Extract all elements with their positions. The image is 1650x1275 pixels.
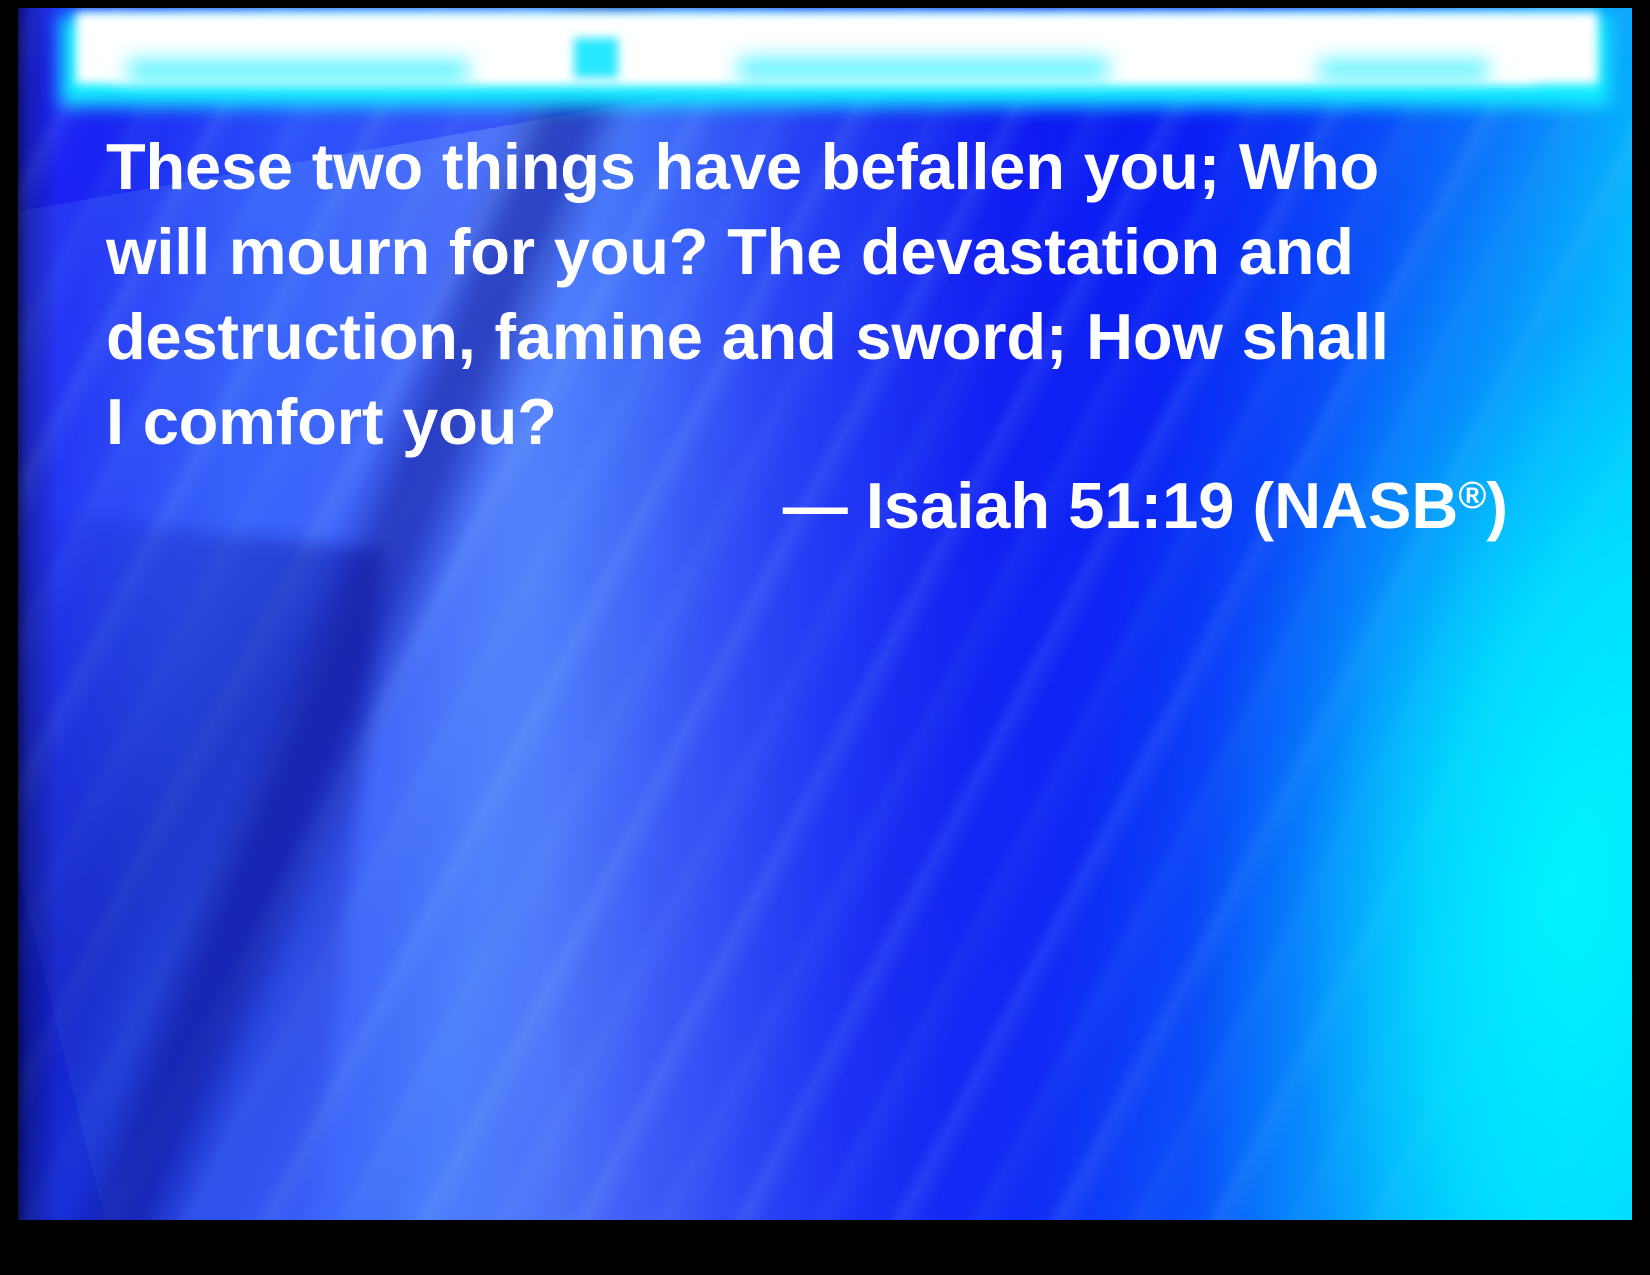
citation-chapter-verse: 51:19 <box>1068 469 1234 542</box>
top-glow-notch <box>574 38 618 78</box>
bible-verse-slide: These two things have befallen you; Who … <box>0 0 1650 1275</box>
citation-em-dash: — <box>783 469 848 542</box>
top-glow-highlight-left <box>128 60 468 82</box>
verse-citation: — Isaiah 51:19 (NASB®) <box>106 463 1508 548</box>
top-glow-highlight-center <box>738 58 1108 80</box>
slide-background-canvas: These two things have befallen you; Who … <box>18 8 1632 1220</box>
citation-close-paren: ) <box>1486 469 1508 542</box>
registered-trademark-icon: ® <box>1458 475 1486 517</box>
verse-text-block: These two things have befallen you; Who … <box>106 124 1506 464</box>
verse-line-2: will mourn for you? The devastation and <box>106 209 1506 294</box>
citation-book: Isaiah <box>866 469 1050 542</box>
citation-translation: NASB <box>1274 469 1458 542</box>
top-glow-bar <box>18 8 1632 128</box>
frame-border-left <box>0 0 18 1275</box>
top-glow-highlight-right <box>1318 60 1488 80</box>
verse-line-1: These two things have befallen you; Who <box>106 124 1506 209</box>
citation-open-paren: ( <box>1253 469 1275 542</box>
frame-border-right <box>1632 0 1650 1275</box>
verse-line-3: destruction, famine and sword; How shall <box>106 294 1506 379</box>
verse-line-4: I comfort you? <box>106 379 1506 464</box>
frame-border-top <box>0 0 1650 8</box>
frame-border-bottom <box>0 1220 1650 1275</box>
